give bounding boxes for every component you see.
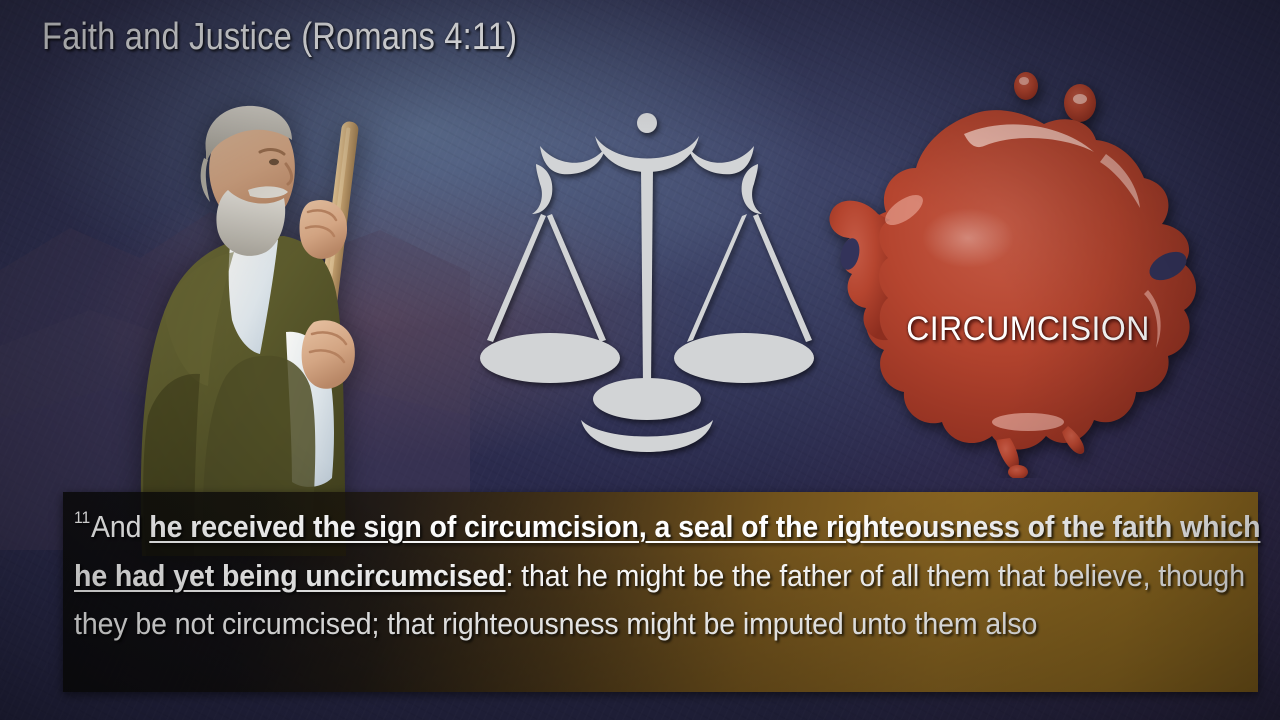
presentation-slide: CIRCUMCISION Faith and Justice (Romans 4… bbox=[0, 0, 1280, 720]
vignette-overlay bbox=[0, 0, 1280, 720]
